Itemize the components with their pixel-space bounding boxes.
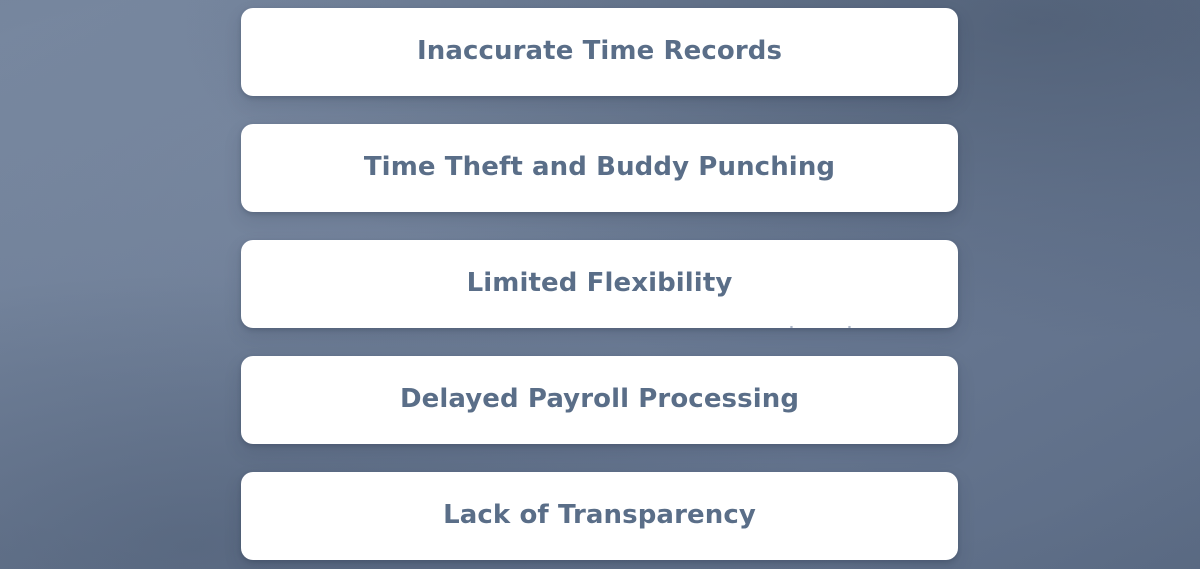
- challenge-card-1[interactable]: Inaccurate Time Records: [241, 8, 958, 96]
- challenge-card-list: Inaccurate Time Records Time Theft and B…: [241, 8, 958, 569]
- challenge-card-label: Limited Flexibility: [467, 268, 733, 299]
- clipped-glyph-a: ·: [789, 322, 794, 328]
- challenge-card-2[interactable]: Time Theft and Buddy Punching: [241, 124, 958, 212]
- challenge-card-label: Lack of Transparency: [443, 500, 756, 531]
- challenge-card-label: Time Theft and Buddy Punching: [364, 152, 835, 183]
- slide-canvas: Inaccurate Time Records Time Theft and B…: [0, 0, 1200, 569]
- clipped-text-artifact: · ·: [241, 322, 958, 328]
- challenge-card-label: Inaccurate Time Records: [417, 36, 782, 67]
- challenge-card-5[interactable]: Lack of Transparency: [241, 472, 958, 560]
- challenge-card-3[interactable]: Limited Flexibility · ·: [241, 240, 958, 328]
- clipped-glyph-b: ·: [847, 322, 852, 328]
- challenge-card-label: Delayed Payroll Processing: [400, 384, 799, 415]
- challenge-card-4[interactable]: Delayed Payroll Processing: [241, 356, 958, 444]
